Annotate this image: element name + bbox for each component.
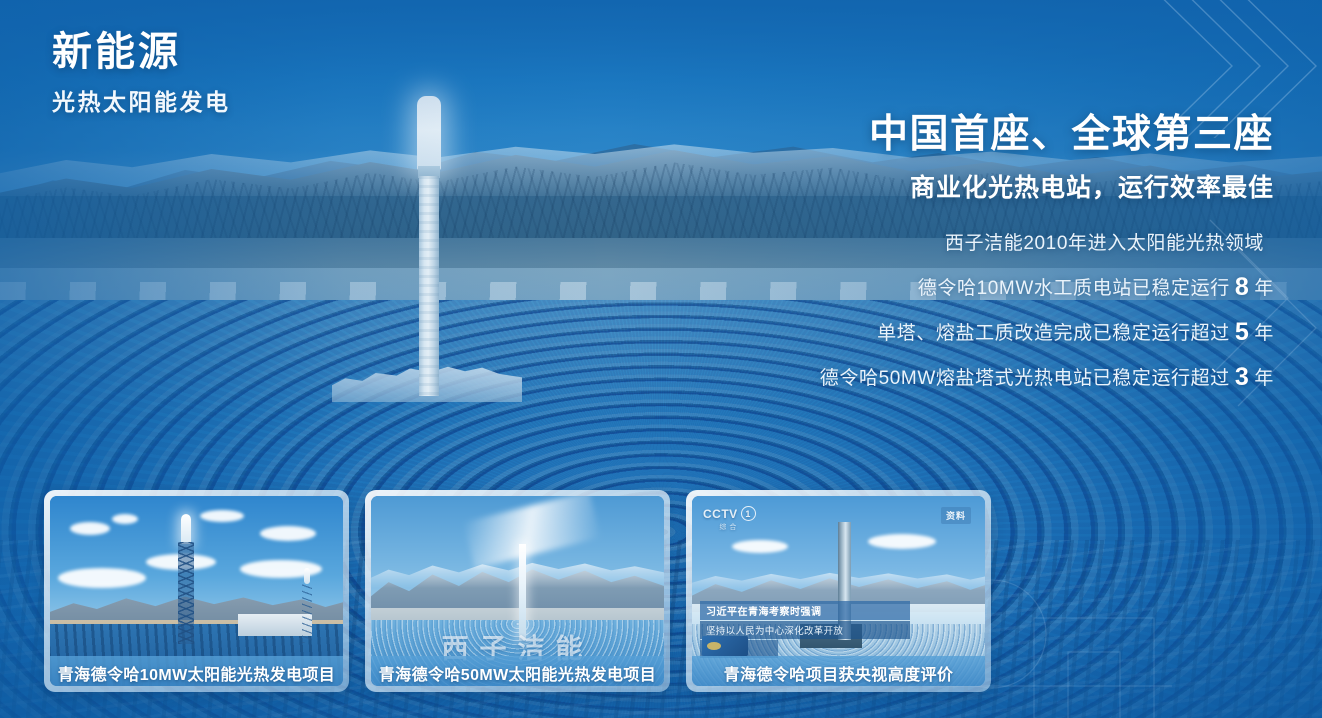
bullet-text: 德令哈50MW熔盐塔式光热电站已稳定运行超过 — [820, 368, 1230, 389]
bullet-number: 5 — [1230, 318, 1255, 346]
cctv-logo-icon: CCTV 1 综合 — [703, 506, 756, 532]
card1-tower-lattice2 — [302, 583, 312, 643]
cloud — [112, 514, 138, 524]
cctv-channel-name: 综合 — [719, 522, 739, 532]
subheadline: 商业化光热电站，运行效率最佳 — [714, 168, 1274, 204]
page-subtitle: 光热太阳能发电 — [52, 83, 231, 117]
card-image: CCTV 1 综合 资料 习近平在青海考察时强调 坚持以人民为中心深化改革开放 … — [692, 496, 985, 686]
card-caption: 青海德令哈项目获央视高度评价 — [692, 656, 985, 686]
cctv-logo-row: CCTV 1 — [703, 506, 756, 521]
cloud — [260, 526, 316, 541]
card1-receiver2 — [304, 568, 310, 584]
project-card-50mw[interactable]: 西子洁能 青海德令哈50MW太阳能光热发电项目 — [365, 490, 670, 692]
cctv-wordmark: CCTV — [703, 507, 738, 521]
bullet-item: 西子洁能2010年进入太阳能光热领域 — [714, 230, 1274, 255]
project-card-cctv[interactable]: CCTV 1 综合 资料 习近平在青海考察时强调 坚持以人民为中心深化改革开放 … — [686, 490, 991, 692]
chyron-headline: 习近平在青海考察时强调 — [700, 601, 910, 620]
cctv-channel-number: 1 — [741, 506, 756, 521]
bullet-item: 单塔、熔盐工质改造完成已稳定运行超过5年 — [714, 320, 1274, 345]
bullet-text: 德令哈10MW水工质电站已稳定运行 — [918, 278, 1230, 299]
bullet-unit: 年 — [1254, 278, 1274, 299]
headline: 中国首座、全球第三座 — [714, 112, 1274, 159]
bullet-item: 德令哈50MW熔盐塔式光热电站已稳定运行超过3年 — [714, 365, 1274, 390]
project-card-10mw[interactable]: 青海德令哈10MW太阳能光热发电项目 — [44, 490, 349, 692]
card1-tower-lattice — [178, 542, 194, 644]
card-caption: 青海德令哈50MW太阳能光热发电项目 — [371, 656, 664, 686]
cloud — [732, 540, 788, 553]
bullet-number: 8 — [1230, 273, 1255, 301]
news-chyron: 习近平在青海考察时强调 坚持以人民为中心深化改革开放 深入推进 — [700, 601, 910, 658]
bullet-unit: 年 — [1254, 368, 1274, 389]
cloud — [70, 522, 110, 535]
cloud — [58, 568, 146, 588]
card1-plant-building — [238, 614, 312, 636]
bullet-list: 西子洁能2010年进入太阳能光热领域 德令哈10MW水工质电站已稳定运行8年 单… — [714, 230, 1274, 390]
bullet-text: 单塔、熔盐工质改造完成已稳定运行超过 — [877, 323, 1230, 344]
card1-secondary-tower — [302, 568, 312, 642]
title-block: 新能源 光热太阳能发电 — [52, 30, 231, 117]
bullet-number: 3 — [1230, 363, 1255, 391]
project-card-list: 青海德令哈10MW太阳能光热发电项目 西子洁能 青海德令哈50MW太阳能光热发电… — [44, 490, 991, 692]
archive-badge: 资料 — [941, 507, 971, 524]
news-program-logo-icon — [702, 636, 748, 656]
slide-root: 新能源 光热太阳能发电 中国首座、全球第三座 商业化光热电站，运行效率最佳 西子… — [0, 0, 1322, 718]
headline-block: 中国首座、全球第三座 商业化光热电站，运行效率最佳 西子洁能2010年进入太阳能… — [714, 112, 1274, 410]
card-image: 西子洁能 青海德令哈50MW太阳能光热发电项目 — [371, 496, 664, 686]
bullet-text: 西子洁能2010年进入太阳能光热领域 — [945, 233, 1264, 254]
card2-solar-tower — [519, 544, 526, 640]
bullet-item: 德令哈10MW水工质电站已稳定运行8年 — [714, 275, 1274, 300]
bullet-unit: 年 — [1254, 323, 1274, 344]
cloud — [200, 510, 244, 522]
cloud — [868, 534, 936, 549]
bullet-number — [1264, 228, 1274, 256]
card-image: 青海德令哈10MW太阳能光热发电项目 — [50, 496, 343, 686]
page-title: 新能源 — [52, 30, 231, 75]
card1-lattice-tower — [178, 514, 194, 644]
card-caption: 青海德令哈10MW太阳能光热发电项目 — [50, 656, 343, 686]
card1-receiver — [181, 514, 191, 544]
